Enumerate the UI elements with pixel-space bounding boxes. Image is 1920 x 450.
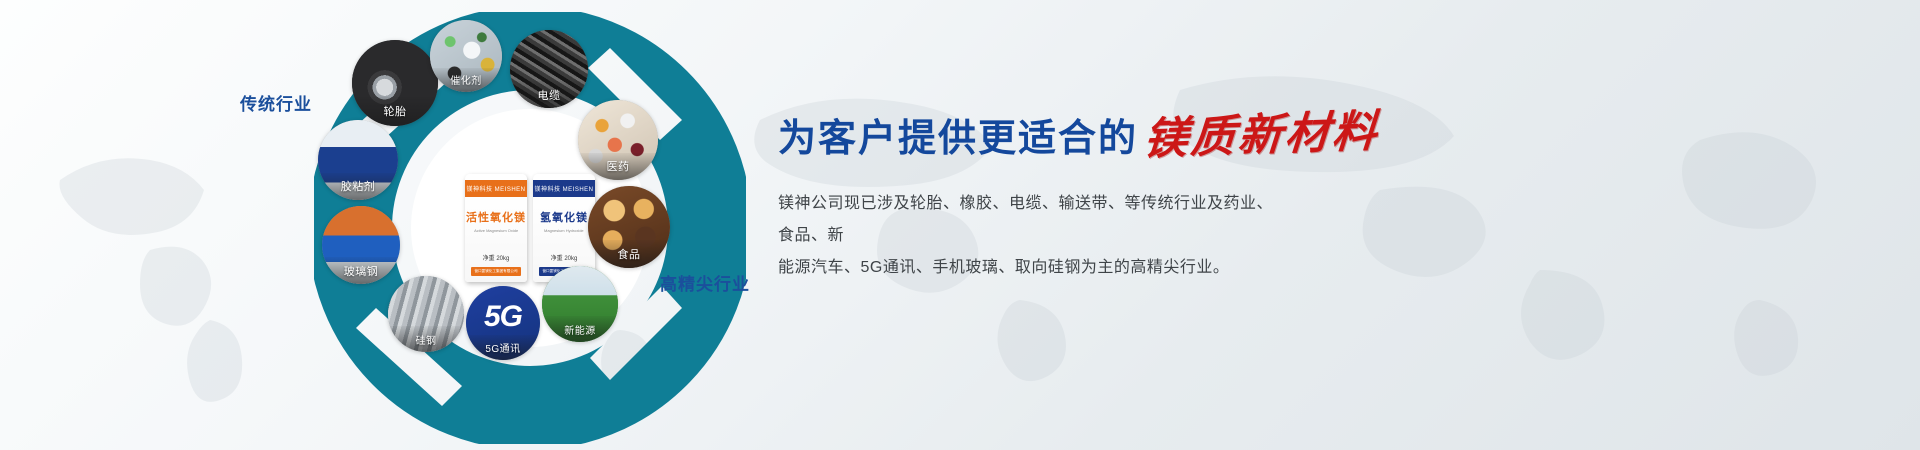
label-advanced-industries: 高精尖行业 bbox=[660, 270, 750, 295]
promo-banner: 镁神科技 MEISHEN 活性氧化镁 Active Magnesium Oxid… bbox=[0, 0, 1920, 450]
comm5g-label: 5G通讯 bbox=[466, 335, 540, 360]
product-bag-left: 镁神科技 MEISHEN 活性氧化镁 Active Magnesium Oxid… bbox=[465, 174, 527, 282]
5g-badge: 5G bbox=[484, 300, 522, 334]
bag-right-name-en: Magnesium Hydroxide bbox=[544, 228, 584, 233]
newenergy-label: 新能源 bbox=[542, 316, 618, 342]
industry-node-silicon[interactable]: 硅钢 bbox=[388, 276, 464, 352]
bag-left-name: 活性氧化镁 bbox=[466, 209, 526, 225]
industry-node-tire[interactable]: 轮胎 bbox=[352, 40, 438, 126]
bag-right-weight: 净重 20kg bbox=[551, 253, 578, 262]
bag-right-name: 氢氧化镁 bbox=[540, 209, 588, 225]
description-line-2: 能源汽车、5G通讯、手机玻璃、取向硅钢为主的高精尖行业。 bbox=[778, 252, 1278, 284]
industry-node-frp[interactable]: 玻璃钢 bbox=[322, 206, 400, 284]
industry-node-comm5g[interactable]: 5G5G通讯 bbox=[466, 286, 540, 360]
frp-label: 玻璃钢 bbox=[322, 257, 400, 284]
catalyst-label: 催化剂 bbox=[430, 68, 502, 92]
headline-red-text: 镁质新材料 bbox=[1142, 110, 1381, 162]
description-paragraph: 镁神公司现已涉及轮胎、橡胶、电缆、输送带、等传统行业及药业、食品、新 能源汽车、… bbox=[778, 188, 1278, 284]
medicine-label: 医药 bbox=[578, 153, 658, 180]
silicon-label: 硅钢 bbox=[388, 326, 464, 352]
industry-wheel: 镁神科技 MEISHEN 活性氧化镁 Active Magnesium Oxid… bbox=[310, 8, 750, 448]
food-label: 食品 bbox=[588, 240, 670, 268]
industry-node-adhesive[interactable]: 胶粘剂 bbox=[318, 120, 398, 200]
bag-left-weight: 净重 20kg bbox=[483, 253, 510, 262]
industry-node-medicine[interactable]: 医药 bbox=[578, 100, 658, 180]
bag-left-name-en: Active Magnesium Oxide bbox=[474, 228, 518, 233]
cable-label: 电缆 bbox=[510, 81, 588, 108]
industry-node-newenergy[interactable]: 新能源 bbox=[542, 266, 618, 342]
industry-node-catalyst[interactable]: 催化剂 bbox=[430, 20, 502, 92]
headline: 为客户提供更适合的 镁质新材料 bbox=[778, 100, 1478, 158]
industry-node-food[interactable]: 食品 bbox=[588, 186, 670, 268]
bag-left-company: 营口菱镁化工集团有限公司 bbox=[471, 267, 521, 276]
copy-block: 为客户提供更适合的 镁质新材料 镁神公司现已涉及轮胎、橡胶、电缆、输送带、等传统… bbox=[778, 100, 1478, 284]
bag-right-brand: 镁神科技 MEISHEN bbox=[533, 180, 595, 197]
adhesive-label: 胶粘剂 bbox=[318, 173, 398, 200]
industry-node-cable[interactable]: 电缆 bbox=[510, 30, 588, 108]
description-line-1: 镁神公司现已涉及轮胎、橡胶、电缆、输送带、等传统行业及药业、食品、新 bbox=[778, 188, 1278, 252]
headline-blue-text: 为客户提供更适合的 bbox=[778, 120, 1138, 158]
bag-left-brand: 镁神科技 MEISHEN bbox=[465, 180, 527, 197]
label-traditional-industries: 传统行业 bbox=[240, 90, 312, 115]
